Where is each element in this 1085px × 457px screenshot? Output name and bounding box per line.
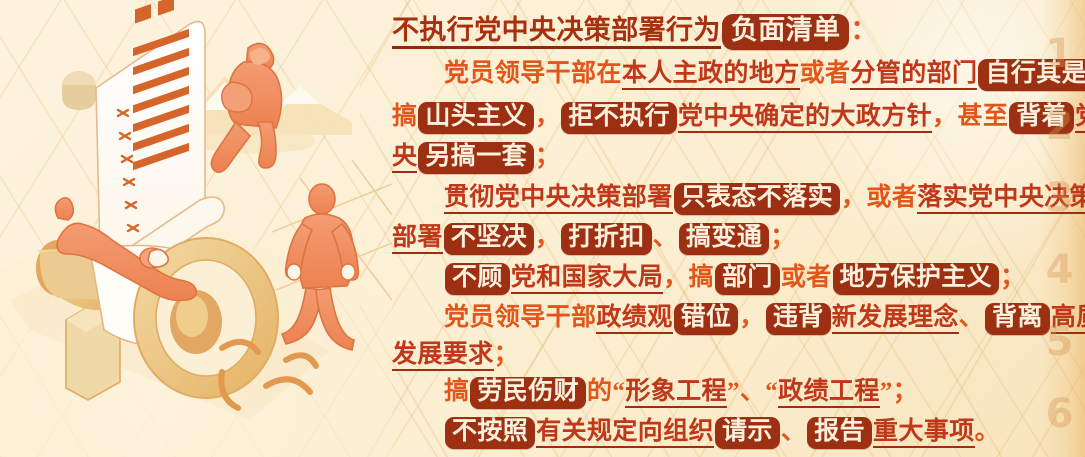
illustration-panel xyxy=(0,0,392,457)
body-line-4: 贯彻党中央决策部署只表态不落实，或者落实党中央决策 xyxy=(392,177,1042,215)
l1-underline-2: 分管的部门 xyxy=(850,60,977,90)
l5-punct-2: 、 xyxy=(653,224,678,251)
l9-quote-close-1: ” xyxy=(727,378,740,405)
l2-badge-2: 拒不执行 xyxy=(561,102,677,134)
l1-text-1: 党员领导干部在 xyxy=(444,60,622,87)
l2-punct-1: ， xyxy=(535,103,560,130)
text-content-column: 不执行党中央决策部署行为负面清单： 党员领导干部在本人主政的地方或者分管的部门自… xyxy=(392,0,1042,457)
l8-underline-1: 发展要求 xyxy=(392,341,494,371)
title-badge: 负面清单 xyxy=(722,14,850,50)
body-line-2: 搞山头主义，拒不执行党中央确定的大政方针，甚至背着党中 xyxy=(392,96,1042,134)
l7-underline-1: 政绩观 xyxy=(596,304,672,334)
body-line-7: 党员领导干部政绩观错位，违背新发展理念、背离高质量 xyxy=(392,297,1042,335)
l4-underline-2: 落实党中央决策 xyxy=(917,184,1085,214)
edge-number-4: 4 xyxy=(1046,250,1073,290)
body-line-3: 央另搞一套； xyxy=(392,136,1042,174)
l7-punct-2: 、 xyxy=(959,304,984,331)
l7-underline-2: 新发展理念 xyxy=(832,304,959,334)
l6-underline-1: 党和国家大局 xyxy=(511,264,663,294)
l9-text-1: 搞 xyxy=(444,378,469,405)
body-line-8: 发展要求； xyxy=(392,334,1042,370)
l4-text-1: 或者 xyxy=(866,184,917,211)
l1-badge-1: 自行其是 xyxy=(978,59,1085,91)
l9-punct-1: 、 xyxy=(740,378,765,405)
l9-quote-open-1: “ xyxy=(612,378,625,405)
l6-text-2: 或者 xyxy=(781,264,832,291)
l10-punct-2: 。 xyxy=(975,418,1000,445)
l8-punct-1: ； xyxy=(494,341,519,368)
l9-badge-1: 劳民伤财 xyxy=(470,377,586,409)
l9-underline-1: 形象工程 xyxy=(625,378,727,408)
l10-punct-1: 、 xyxy=(781,418,806,445)
l9-punct-2: ； xyxy=(893,378,918,405)
l6-badge-3: 地方保护主义 xyxy=(833,263,999,295)
l7-badge-3: 背离 xyxy=(985,303,1050,335)
l6-text-1: 搞 xyxy=(689,264,714,291)
l7-text-1: 党员领导干部 xyxy=(444,304,596,331)
body-line-9: 搞劳民伤财的“形象工程”、“政绩工程”； xyxy=(392,371,1042,409)
title-text: 不执行党中央决策部署行为 xyxy=(392,15,721,49)
title-colon: ： xyxy=(850,15,877,45)
body-line-1: 党员领导干部在本人主政的地方或者分管的部门自行其是， xyxy=(392,53,1042,91)
l10-badge-3: 报告 xyxy=(807,417,872,449)
l4-punct-1: ， xyxy=(841,184,866,211)
body-line-10: 不按照有关规定向组织请示、报告重大事项。 xyxy=(392,411,1042,449)
l7-badge-2: 违背 xyxy=(766,303,831,335)
l5-punct-1: ， xyxy=(535,224,560,251)
l4-badge-1: 只表态不落实 xyxy=(674,183,840,215)
l3-punct-1: ； xyxy=(535,143,560,170)
l10-badge-2: 请示 xyxy=(715,417,780,449)
l9-underline-2: 政绩工程 xyxy=(778,378,880,408)
l3-underline-1: 央 xyxy=(392,143,417,173)
l10-underline-1: 有关规定向组织 xyxy=(536,418,714,448)
l2-badge-1: 山头主义 xyxy=(418,102,534,134)
l10-badge-1: 不按照 xyxy=(445,417,535,449)
l6-badge-2: 部门 xyxy=(715,263,780,295)
l2-underline-2: 党中 xyxy=(1075,103,1085,133)
l2-text-1: 搞 xyxy=(392,103,417,130)
edge-number-column: 1 2 3 4 5 6 xyxy=(1039,34,1079,434)
l6-badge-1: 不顾 xyxy=(445,263,510,295)
l7-punct-1: ， xyxy=(739,304,764,331)
l3-badge-1: 另搞一套 xyxy=(418,142,534,174)
l5-badge-3: 搞变通 xyxy=(679,223,769,255)
poster-title: 不执行党中央决策部署行为负面清单： xyxy=(392,8,1042,50)
l1-underline-1: 本人主政的地方 xyxy=(622,60,800,90)
l1-text-2: 或者 xyxy=(800,60,851,87)
l2-badge-3: 背着 xyxy=(1009,102,1074,134)
poster-root: 不执行党中央决策部署行为负面清单： 党员领导干部在本人主政的地方或者分管的部门自… xyxy=(0,0,1085,457)
l9-text-2: 的 xyxy=(587,378,612,405)
l5-badge-2: 打折扣 xyxy=(561,223,651,255)
body-line-5: 部署不坚决，打折扣、搞变通； xyxy=(392,217,1042,255)
l7-badge-1: 错位 xyxy=(674,303,739,335)
l5-underline-1: 部署 xyxy=(392,224,443,254)
l6-punct-1: ， xyxy=(663,264,688,291)
l6-punct-2: ； xyxy=(1000,264,1025,291)
body-line-6: 不顾党和国家大局，搞部门或者地方保护主义； xyxy=(392,257,1042,295)
isometric-illustration xyxy=(0,0,392,457)
l4-underline-1: 贯彻党中央决策部署 xyxy=(444,184,673,214)
l2-underline-1: 党中央确定的大政方针 xyxy=(678,103,932,133)
l9-quote-open-2: “ xyxy=(765,378,778,405)
l5-punct-3: ； xyxy=(770,224,795,251)
l7-underline-3: 高质量 xyxy=(1051,304,1085,334)
l9-quote-close-2: ” xyxy=(880,378,893,405)
l10-underline-2: 重大事项 xyxy=(873,418,975,448)
l5-badge-1: 不坚决 xyxy=(444,223,534,255)
l2-punct-2: ， xyxy=(932,103,957,130)
edge-number-6: 6 xyxy=(1046,394,1073,434)
l2-text-2: 甚至 xyxy=(957,103,1008,130)
